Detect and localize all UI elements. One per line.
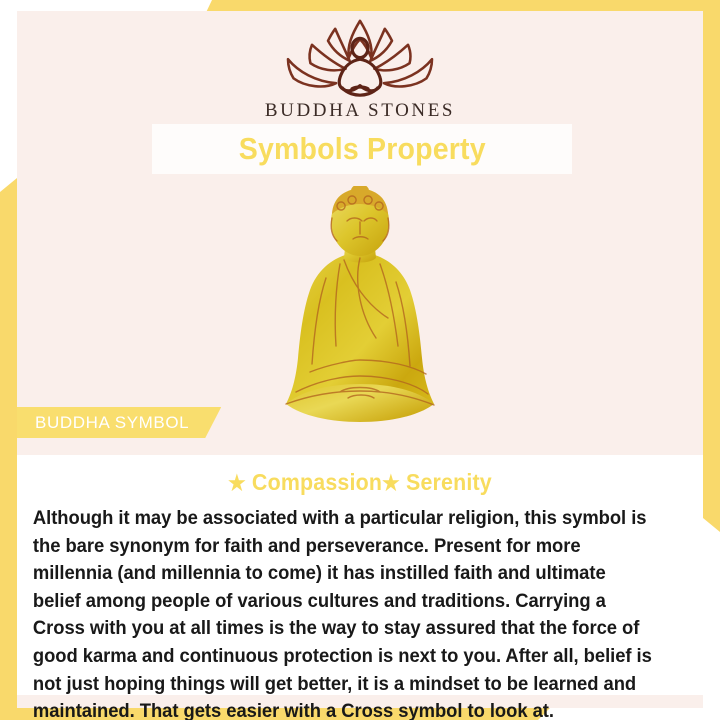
content-subtitle: ★ Compassion★ Serenity	[54, 469, 666, 496]
brand-name: BUDDHA STONES	[0, 100, 720, 122]
content-paragraph: Although it may be associated with a par…	[31, 505, 659, 720]
star-icon-right: ★	[382, 472, 400, 495]
lotus-meditation-icon	[272, 14, 448, 98]
category-ribbon-label: BUDDHA SYMBOL	[35, 413, 189, 433]
hero-image	[0, 176, 720, 436]
title-banner: Symbols Property	[152, 124, 572, 174]
category-ribbon: BUDDHA SYMBOL	[17, 407, 221, 438]
subtitle-word-serenity: Serenity	[406, 469, 492, 495]
poster-root: BUDDHA STONES Symbols Property	[0, 0, 720, 720]
content-card: ★ Compassion★ Serenity Although it may b…	[17, 455, 703, 695]
golden-seated-buddha-statue-icon	[248, 186, 472, 436]
page-title: Symbols Property	[238, 131, 485, 167]
star-icon-left: ★	[228, 472, 246, 495]
brand-block: BUDDHA STONES	[0, 14, 720, 122]
subtitle-word-compassion: Compassion	[252, 469, 382, 495]
